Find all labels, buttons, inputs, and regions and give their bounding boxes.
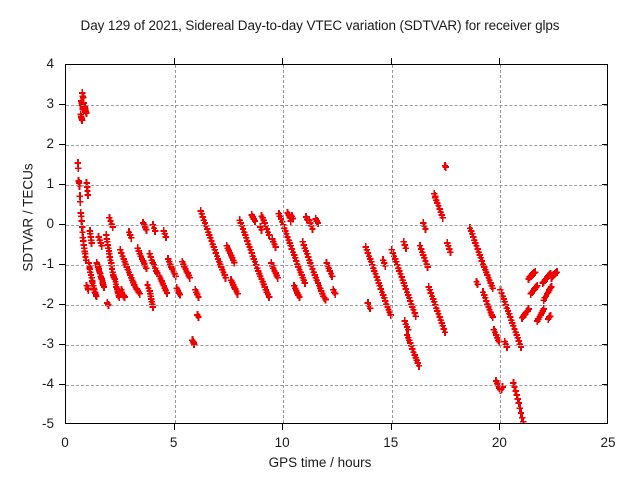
gridline-horizontal (66, 105, 607, 106)
y-axis-tick (602, 384, 608, 385)
gridline-vertical (500, 65, 501, 423)
x-axis-tick (174, 58, 175, 64)
y-axis-tick-label: 3 (6, 97, 54, 111)
x-axis-tick (499, 58, 500, 64)
gridline-horizontal (66, 305, 607, 306)
y-axis-tick (59, 144, 65, 145)
y-axis-tick (602, 304, 608, 305)
y-axis-tick-label: -4 (6, 377, 54, 391)
gridline-horizontal (66, 265, 607, 266)
gridline-vertical (392, 65, 393, 423)
gridline-horizontal (66, 385, 607, 386)
x-axis-tick (391, 424, 392, 430)
x-axis-title: GPS time / hours (0, 455, 640, 470)
x-axis-tick-label: 10 (252, 436, 312, 450)
y-axis-tick (602, 264, 608, 265)
gridline-horizontal (66, 225, 607, 226)
y-axis-tick (59, 264, 65, 265)
y-axis-tick (602, 344, 608, 345)
y-axis-tick-label: -5 (6, 417, 54, 431)
x-axis-tick-label: 15 (361, 436, 421, 450)
y-axis-tick (602, 224, 608, 225)
x-axis-tick (391, 58, 392, 64)
y-axis-tick (602, 144, 608, 145)
y-axis-tick (59, 104, 65, 105)
y-axis-tick-label: 4 (6, 57, 54, 71)
x-axis-tick-label: 20 (469, 436, 529, 450)
y-axis-tick (59, 224, 65, 225)
x-axis-tick (282, 424, 283, 430)
scatter-chart-figure: Day 129 of 2021, Sidereal Day-to-day VTE… (0, 0, 640, 480)
y-axis-tick (59, 304, 65, 305)
gridline-horizontal (66, 145, 607, 146)
x-axis-tick-label: 0 (35, 436, 95, 450)
y-axis-tick (59, 184, 65, 185)
page-title: Day 129 of 2021, Sidereal Day-to-day VTE… (0, 18, 640, 33)
x-axis-tick (282, 58, 283, 64)
scatter-series (66, 65, 608, 424)
x-axis-tick (499, 424, 500, 430)
x-axis-tick-label: 25 (578, 436, 638, 450)
y-axis-tick (602, 104, 608, 105)
plot-area (65, 64, 608, 424)
y-axis-tick (602, 184, 608, 185)
y-axis-tick (59, 344, 65, 345)
x-axis-tick (174, 424, 175, 430)
x-axis-tick-label: 5 (144, 436, 204, 450)
y-axis-title: SDTVAR / TECUs (21, 118, 36, 318)
y-axis-tick (59, 384, 65, 385)
y-axis-tick-label: -3 (6, 337, 54, 351)
gridline-horizontal (66, 185, 607, 186)
gridline-vertical (175, 65, 176, 423)
gridline-horizontal (66, 345, 607, 346)
gridline-vertical (283, 65, 284, 423)
